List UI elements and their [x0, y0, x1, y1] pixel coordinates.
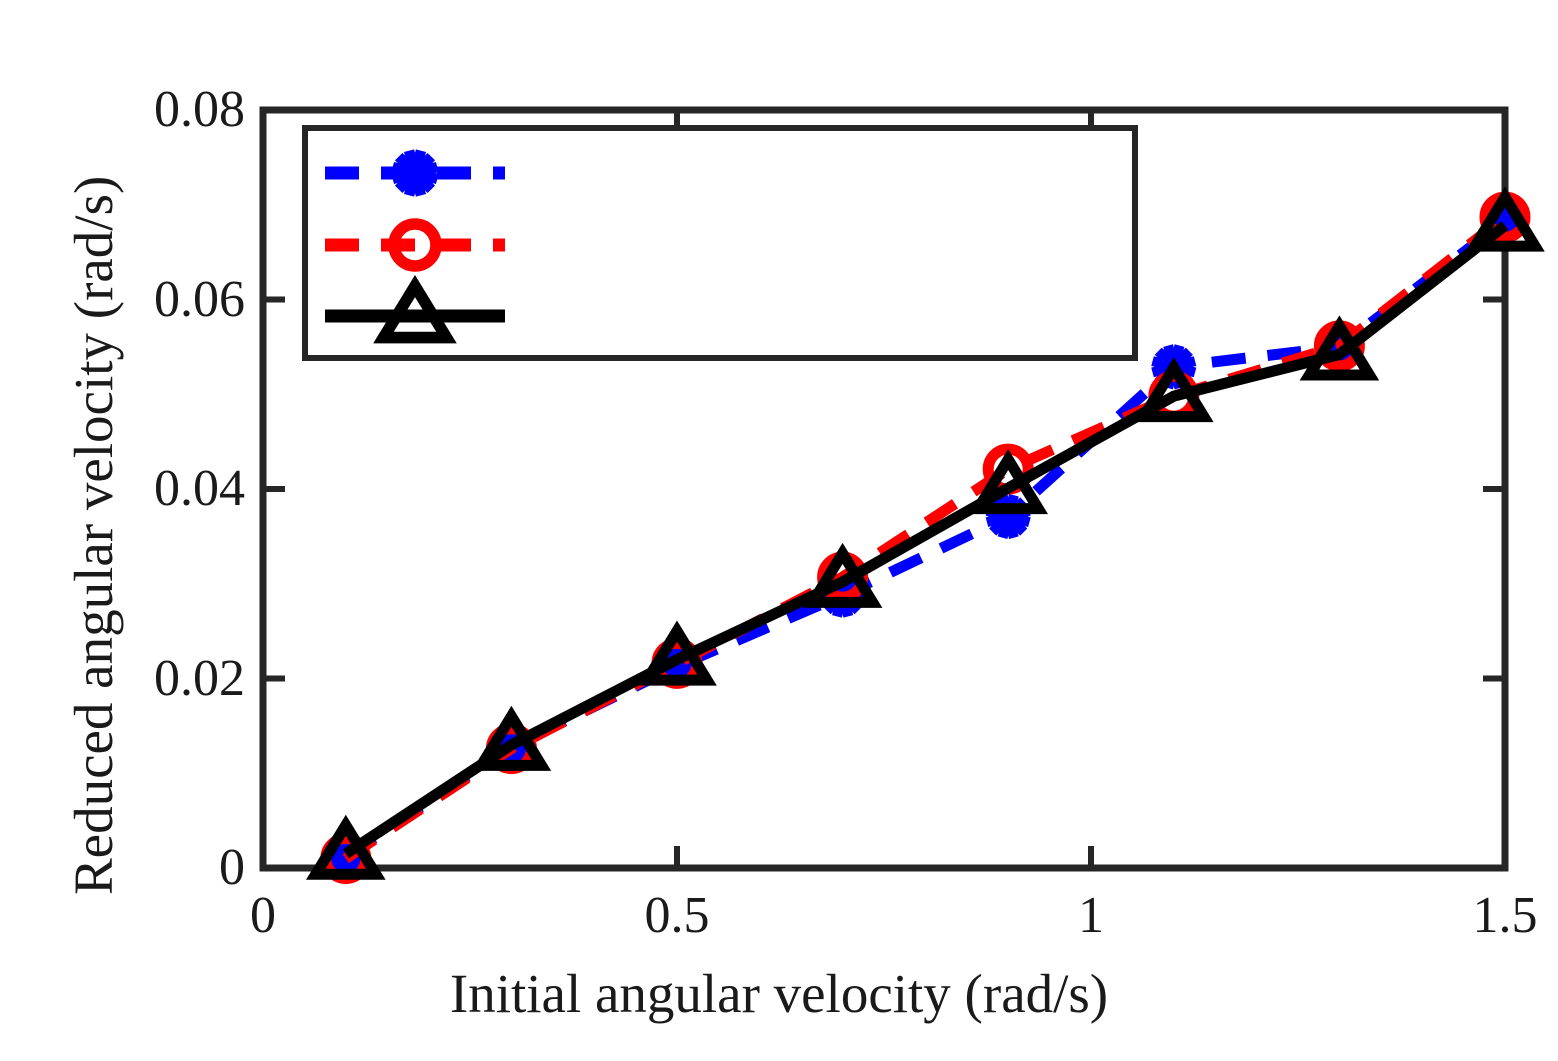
plot-canvas	[0, 0, 1558, 1061]
chart-figure: Reduced angular velocity (rad/s) Initial…	[0, 0, 1558, 1061]
legend-marker-1	[393, 151, 438, 196]
legend-box	[305, 128, 1135, 358]
